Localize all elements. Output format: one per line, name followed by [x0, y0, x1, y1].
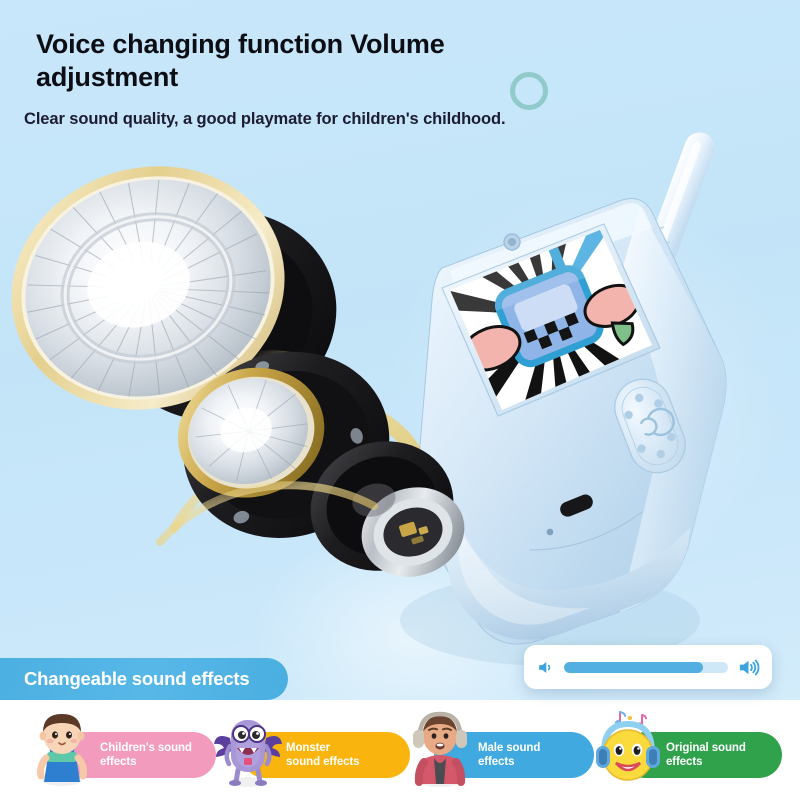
- sound-effect-label: Children's sound effects: [100, 741, 192, 770]
- volume-track[interactable]: [564, 662, 728, 673]
- sound-effect-pill[interactable]: Monster sound effects: [242, 732, 410, 778]
- sound-effect-label: Monster sound effects: [286, 741, 359, 770]
- sound-effect-item-monster[interactable]: Monster sound effects: [212, 708, 422, 792]
- circle-outline-decoration-icon: [510, 72, 548, 110]
- sound-effect-label: Original sound effects: [666, 741, 746, 770]
- sound-effect-item-male[interactable]: Male sound effects: [404, 708, 604, 792]
- volume-fill: [564, 662, 703, 673]
- promo-image: Voice changing function Volume adjustmen…: [0, 0, 800, 800]
- sound-effect-item-original[interactable]: Original sound effects: [592, 708, 792, 792]
- sound-effects-row: Children's sound effects: [0, 700, 800, 800]
- volume-slider[interactable]: [524, 645, 772, 689]
- sound-effect-pill[interactable]: Children's sound effects: [56, 732, 216, 778]
- changeable-sound-effects-banner: Changeable sound effects: [0, 658, 288, 700]
- sound-effect-pill[interactable]: Original sound effects: [622, 732, 782, 778]
- volume-high-icon[interactable]: [737, 656, 760, 679]
- sound-effect-pill[interactable]: Male sound effects: [434, 732, 594, 778]
- page-title: Voice changing function Volume adjustmen…: [36, 28, 506, 95]
- sound-effect-item-children[interactable]: Children's sound effects: [26, 708, 236, 792]
- sound-effect-label: Male sound effects: [478, 741, 540, 770]
- volume-low-icon[interactable]: [536, 658, 555, 677]
- banner-label: Changeable sound effects: [24, 668, 249, 690]
- exploded-speaker-assembly: [10, 140, 490, 600]
